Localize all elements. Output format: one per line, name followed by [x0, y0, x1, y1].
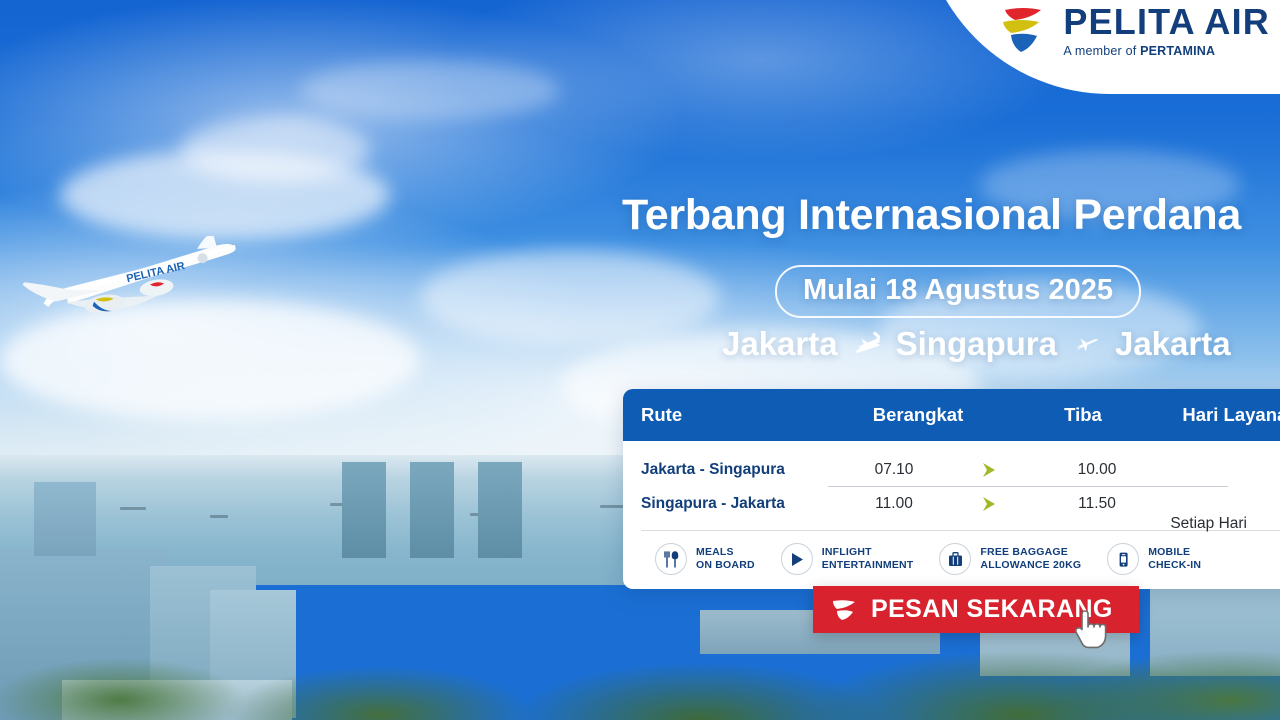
amenity-label-line2: ON BOARD — [696, 559, 755, 572]
amenity-mobile-checkin: MOBILE CHECK-IN — [1107, 543, 1201, 575]
cloud — [300, 60, 560, 120]
hand-pointer-cursor-icon — [1072, 607, 1112, 651]
brand-member-prefix: A member of — [1063, 44, 1140, 58]
service-days-value: Setiap Hari — [1170, 515, 1247, 533]
marina-bay-sands-tower — [342, 462, 386, 558]
amenity-label-line2: ALLOWANCE 20KG — [980, 559, 1081, 572]
row-route: Singapura - Jakarta — [641, 495, 828, 513]
cutlery-icon — [655, 543, 687, 575]
brand-member-of: PERTAMINA — [1140, 44, 1215, 58]
route-summary: Jakarta Singapura Jakarta — [722, 325, 1231, 363]
column-header-rute: Rute — [623, 404, 828, 426]
amenity-label-line2: ENTERTAINMENT — [822, 559, 914, 572]
amenity-free-baggage: FREE BAGGAGE ALLOWANCE 20KG — [939, 543, 1081, 575]
amenity-label-line2: CHECK-IN — [1148, 559, 1201, 572]
brand-tagline: A member of PERTAMINA — [1063, 45, 1270, 58]
schedule-body: Jakarta - Singapura 07.10 10.00 Singapur… — [623, 441, 1280, 589]
route-origin: Jakarta — [722, 325, 838, 363]
schedule-header-row: Rute Berangkat Tiba Hari Layanan — [623, 389, 1280, 441]
amenity-label-line1: FREE BAGGAGE — [980, 546, 1081, 559]
column-header-hari-layanan: Hari Layanan — [1158, 404, 1280, 426]
row-depart-time: 11.00 — [828, 495, 960, 513]
airplane-icon — [852, 329, 882, 359]
mobile-icon — [1107, 543, 1139, 575]
marina-bay-sands-tower — [478, 462, 522, 558]
column-header-berangkat: Berangkat — [828, 404, 1008, 426]
amenity-label-line1: MOBILE — [1148, 546, 1201, 559]
chevron-right-icon — [960, 495, 1022, 513]
airplane-icon: PELITA AIR — [6, 236, 252, 336]
column-header-tiba: Tiba — [1008, 404, 1158, 426]
schedule-card: Rute Berangkat Tiba Hari Layanan Jakarta… — [623, 389, 1280, 589]
amenity-inflight-entertainment: INFLIGHT ENTERTAINMENT — [781, 543, 914, 575]
amenity-label-line1: MEALS — [696, 546, 755, 559]
page-title: Terbang Internasional Perdana — [622, 191, 1280, 240]
table-row: Jakarta - Singapura 07.10 10.00 — [641, 453, 1280, 486]
amenity-meals-on-board: MEALS ON BOARD — [655, 543, 755, 575]
chevron-right-icon — [960, 461, 1022, 479]
brand-name: PELITA AIR — [1063, 4, 1270, 40]
suitcase-icon — [939, 543, 971, 575]
route-via: Singapura — [896, 325, 1057, 363]
cloud — [180, 118, 370, 182]
marina-bay-sands-tower — [410, 462, 454, 558]
route-destination: Jakarta — [1115, 325, 1231, 363]
play-icon — [781, 543, 813, 575]
row-arrive-time: 10.00 — [1022, 461, 1172, 479]
row-route: Jakarta - Singapura — [641, 461, 828, 479]
pelita-wing-logo-icon — [997, 4, 1051, 58]
amenities-row: MEALS ON BOARD INFLIGHT ENTERTAINMENT — [641, 531, 1280, 589]
airplane-icon — [1071, 329, 1101, 359]
pelita-wing-mark-icon — [831, 599, 857, 621]
amenity-label-line1: INFLIGHT — [822, 546, 914, 559]
cloud — [420, 250, 720, 345]
row-arrive-time: 11.50 — [1022, 495, 1172, 513]
row-depart-time: 07.10 — [828, 461, 960, 479]
banner-canvas: PELITA AIR PELITA AIR A member of PERTAM… — [0, 0, 1280, 720]
date-badge: Mulai 18 Agustus 2025 — [775, 265, 1141, 318]
